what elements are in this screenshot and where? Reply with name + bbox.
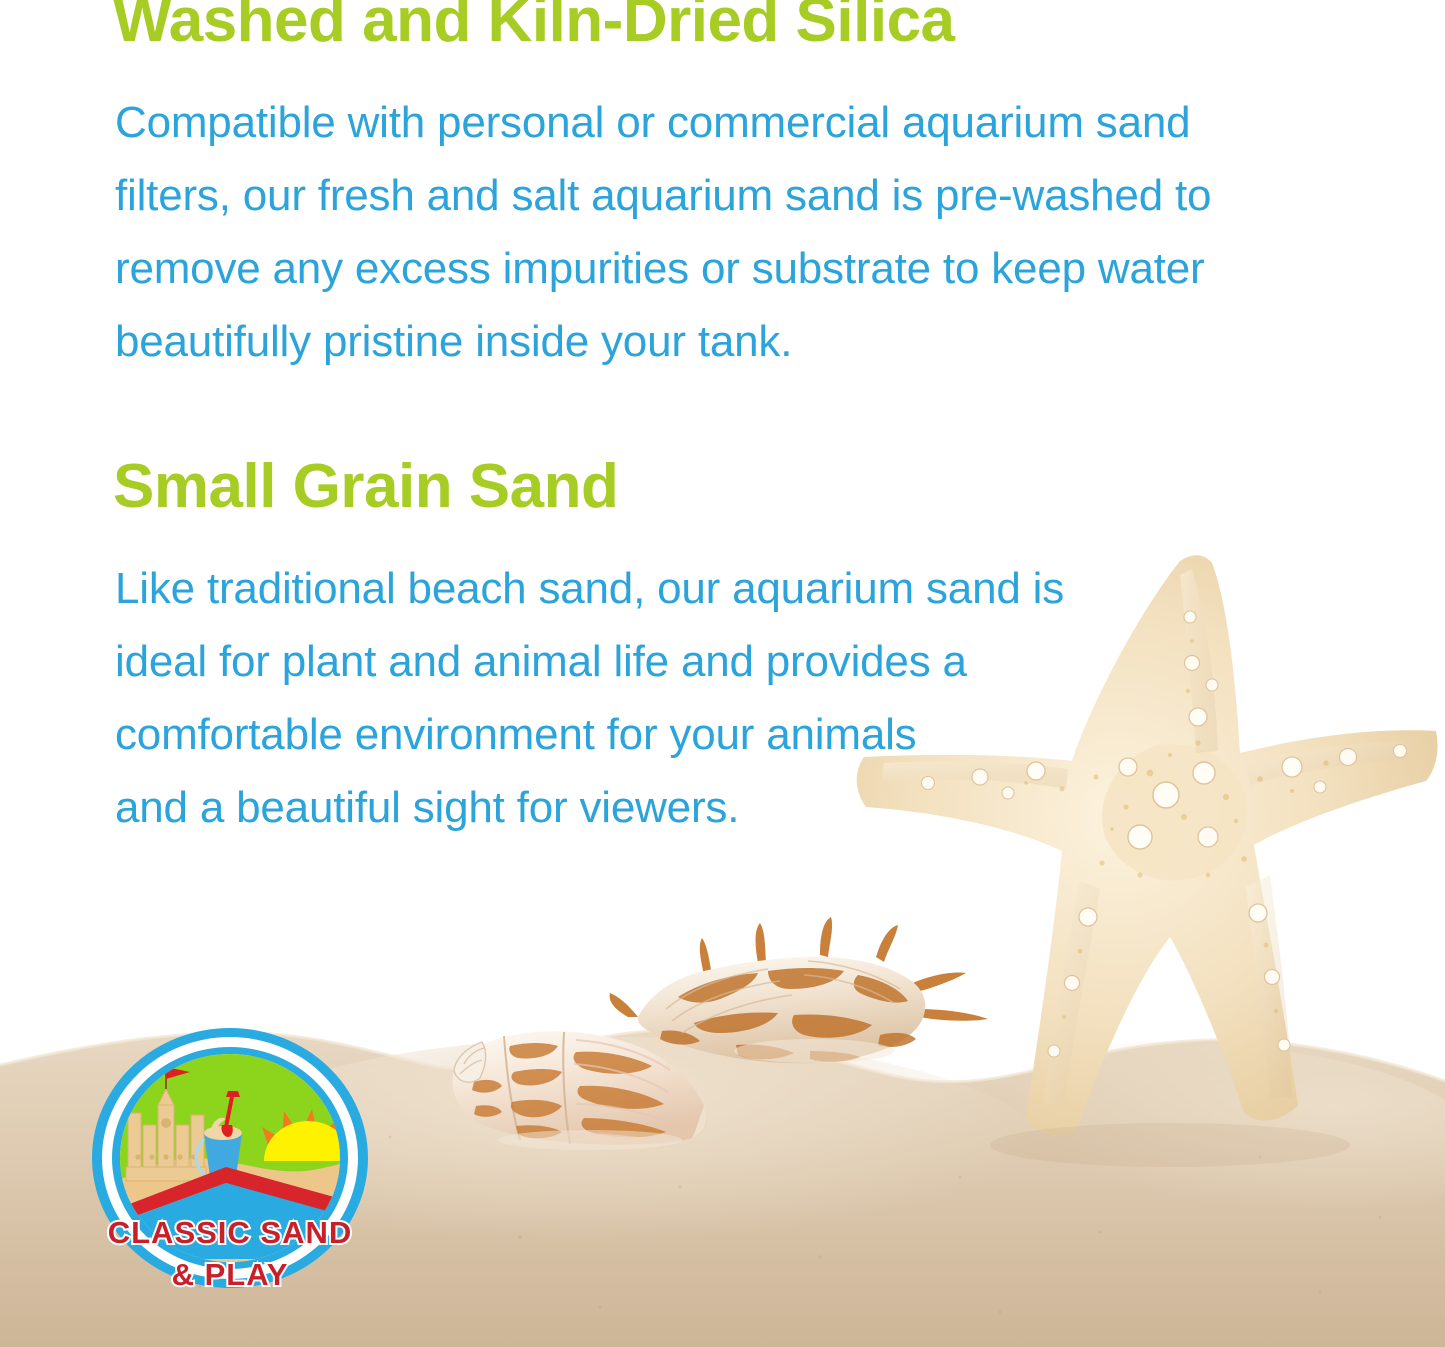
paragraph-line: comfortable environment for your animals <box>115 698 1155 771</box>
section-paragraph-small-grain-sand: Like traditional beach sand, our aquariu… <box>115 552 1155 844</box>
section-heading-washed-kiln-dried-silica: Washed and Kiln-Dried Silica <box>113 0 955 52</box>
logo-brand-line-1: CLASSIC SAND <box>108 1215 353 1250</box>
paragraph-line: remove any excess impurities or substrat… <box>115 232 1305 305</box>
paragraph-line: beautifully pristine inside your tank. <box>115 305 1305 378</box>
section-paragraph-washed-kiln-dried-silica: Compatible with personal or commercial a… <box>115 86 1305 378</box>
paragraph-line: ideal for plant and animal life and prov… <box>115 625 1155 698</box>
paragraph-line: Compatible with personal or commercial a… <box>115 86 1305 159</box>
cone-snail-shell <box>440 1008 740 1168</box>
logo-brand-line-2: & PLAY <box>172 1257 289 1289</box>
paragraph-line: Like traditional beach sand, our aquariu… <box>115 552 1155 625</box>
brand-logo-badge[interactable]: CLASSIC SAND & PLAY <box>86 1027 374 1289</box>
paragraph-line: and a beautiful sight for viewers. <box>115 771 1155 844</box>
product-feature-panel: CLASSIC SAND & PLAY Washed and Kiln-Drie… <box>0 0 1445 1347</box>
paragraph-line: filters, our fresh and salt aquarium san… <box>115 159 1305 232</box>
section-heading-small-grain-sand: Small Grain Sand <box>113 456 618 518</box>
